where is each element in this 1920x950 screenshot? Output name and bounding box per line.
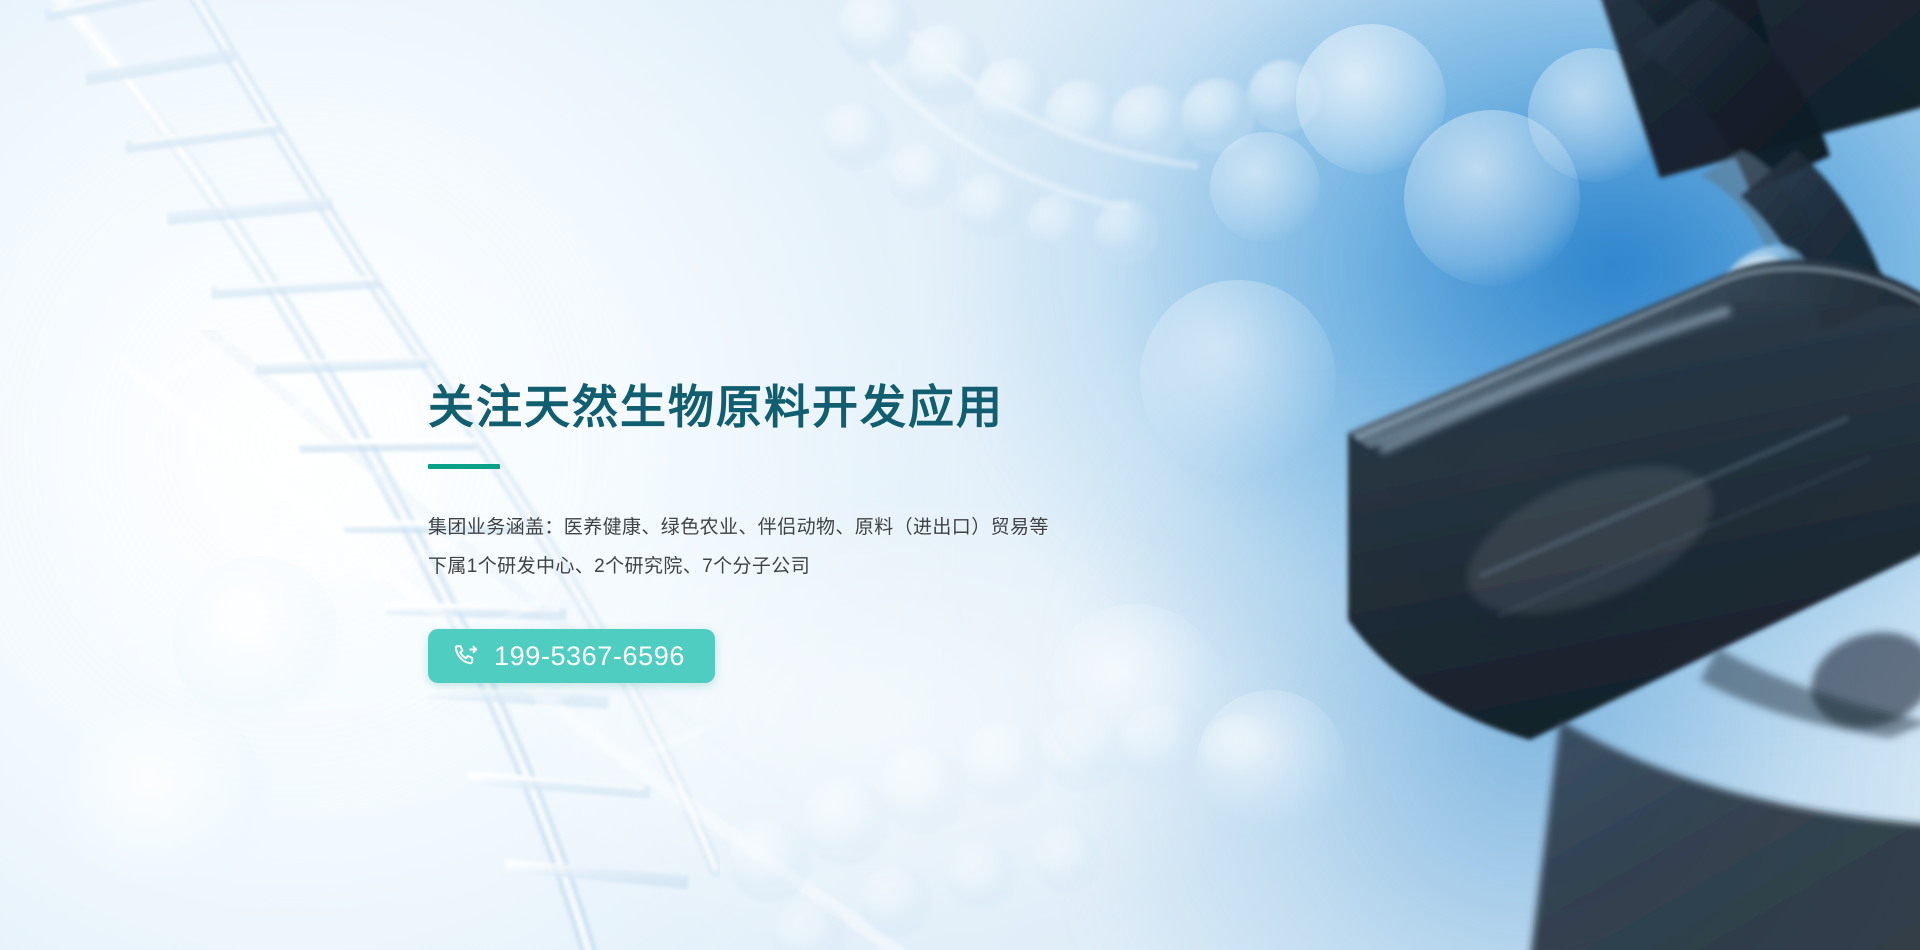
molecule-chain-bottom	[700, 640, 1320, 950]
phone-cta-button[interactable]: 199-5367-6596	[428, 629, 715, 683]
accent-divider	[428, 464, 500, 469]
bokeh-circle	[1296, 24, 1446, 174]
bokeh-circle	[1460, 430, 1580, 550]
bokeh-circle	[1404, 110, 1580, 286]
phone-number-label: 199-5367-6596	[494, 643, 685, 670]
phone-forward-icon	[452, 642, 480, 670]
bokeh-circle	[1196, 690, 1346, 840]
bokeh-circle	[1210, 132, 1320, 242]
bokeh-circle	[60, 700, 270, 910]
hero-content: 关注天然生物原料开发应用 集团业务涵盖：医养健康、绿色农业、伴侣动物、原料（进出…	[428, 380, 1208, 683]
hero-banner: 关注天然生物原料开发应用 集团业务涵盖：医养健康、绿色农业、伴侣动物、原料（进出…	[0, 0, 1920, 950]
page-title: 关注天然生物原料开发应用	[428, 380, 1208, 434]
subtitle-line-1: 集团业务涵盖：医养健康、绿色农业、伴侣动物、原料（进出口）贸易等	[428, 509, 1208, 548]
microscope-icon	[1230, 0, 1920, 950]
hero-subtitle: 集团业务涵盖：医养健康、绿色农业、伴侣动物、原料（进出口）贸易等 下属1个研发中…	[428, 509, 1208, 587]
bokeh-circle	[172, 556, 342, 726]
subtitle-line-2: 下属1个研发中心、2个研究院、7个分子公司	[428, 548, 1208, 587]
bokeh-circle	[1528, 48, 1662, 182]
